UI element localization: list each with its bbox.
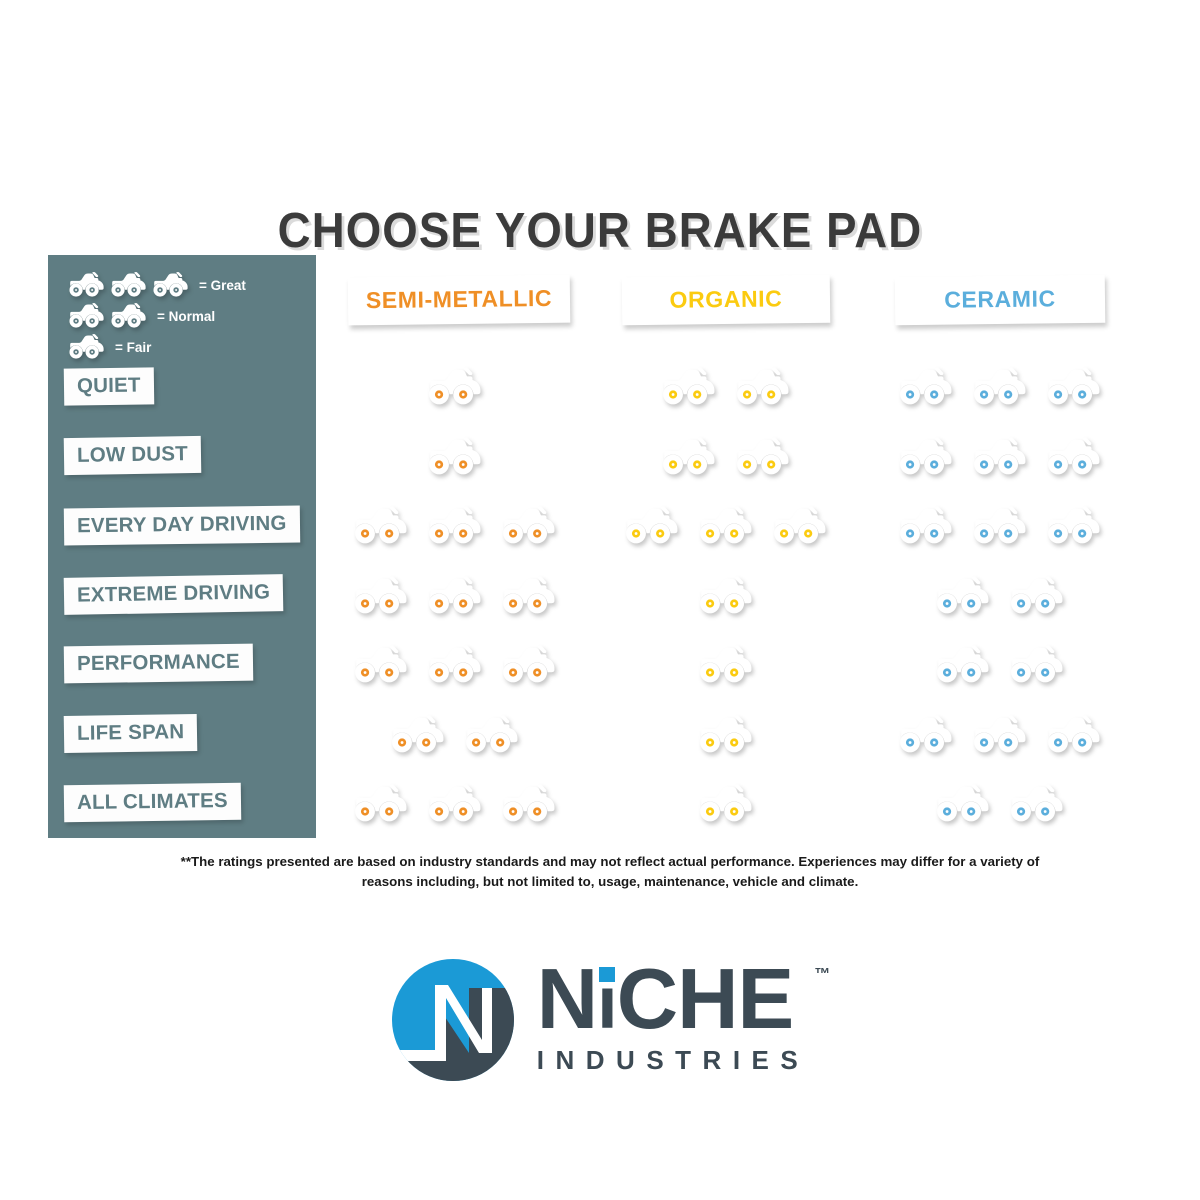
atv-icon (735, 366, 792, 407)
atv-icon (935, 783, 992, 824)
rating-cell (594, 491, 859, 560)
legend-item-fair: = Fair (68, 333, 151, 361)
atv-icon (353, 575, 410, 616)
logo-subtitle: INDUSTRIES (537, 1045, 809, 1076)
atv-icon (735, 436, 792, 477)
atv-icon (898, 366, 955, 407)
rating-cell (594, 560, 859, 629)
column-header-organic[interactable]: ORGANIC (622, 275, 831, 326)
rating-cell (863, 352, 1138, 421)
atv-icon (501, 575, 558, 616)
atv-icon (501, 505, 558, 546)
criteria-label-low-dust[interactable]: LOW DUST (64, 436, 201, 475)
rating-cell (321, 421, 590, 490)
atv-icon (661, 436, 718, 477)
logo-letter-n: N (537, 952, 597, 1047)
rating-cell (594, 699, 859, 768)
atv-icon (110, 271, 148, 298)
rating-cell (594, 630, 859, 699)
logo-wordmark: NiCHE™ INDUSTRIES (537, 964, 809, 1075)
rating-cell (863, 560, 1138, 629)
atv-icon (972, 366, 1029, 407)
rating-cell (594, 769, 859, 838)
atv-icon (698, 575, 755, 616)
legend-label-fair: = Fair (115, 340, 151, 355)
column-header-semi-metallic[interactable]: SEMI-METALLIC (348, 275, 571, 326)
atv-icon (972, 505, 1029, 546)
rating-cell (863, 421, 1138, 490)
rating-cell (863, 630, 1138, 699)
atv-icon (935, 644, 992, 685)
legend-icons-normal (68, 302, 148, 329)
atv-icon (353, 505, 410, 546)
atv-icon (698, 783, 755, 824)
atv-icon (427, 783, 484, 824)
atv-icon (898, 505, 955, 546)
atv-icon (152, 271, 190, 298)
atv-icon (390, 714, 447, 755)
legend-item-great: = Great (68, 271, 246, 299)
atv-icon (772, 505, 829, 546)
logo-letters-che: CHE (617, 952, 793, 1047)
atv-icon (1046, 436, 1103, 477)
niche-logo-mark-icon (391, 958, 515, 1082)
column-header-ceramic[interactable]: CERAMIC (895, 275, 1106, 326)
criteria-label-extreme-driving[interactable]: EXTREME DRIVING (64, 574, 284, 615)
atv-icon (972, 436, 1029, 477)
company-logo: NiCHE™ INDUSTRIES (0, 940, 1200, 1100)
rating-cell (594, 352, 859, 421)
rating-cell (321, 491, 590, 560)
rating-cell (321, 560, 590, 629)
brake-pad-comparison-chart: = Great = Normal = Fair SEMI-METALLIC OR… (48, 255, 1138, 838)
atv-icon (427, 644, 484, 685)
atv-icon (661, 366, 718, 407)
atv-icon (427, 436, 484, 477)
atv-icon (464, 714, 521, 755)
atv-icon (427, 366, 484, 407)
atv-icon (698, 714, 755, 755)
atv-icon (935, 575, 992, 616)
rating-cell (594, 421, 859, 490)
atv-icon (898, 436, 955, 477)
rating-cell (321, 769, 590, 838)
atv-icon (110, 302, 148, 329)
atv-icon (501, 783, 558, 824)
rating-cell (863, 699, 1138, 768)
atv-icon (1009, 644, 1066, 685)
rating-legend: = Great = Normal = Fair (62, 269, 312, 359)
legend-item-normal: = Normal (68, 302, 215, 330)
legend-icons-great (68, 271, 190, 298)
atv-icon (624, 505, 681, 546)
criteria-label-every-day-driving[interactable]: EVERY DAY DRIVING (64, 505, 300, 545)
criteria-label-life-span[interactable]: LIFE SPAN (64, 714, 198, 753)
criteria-label-quiet[interactable]: QUIET (64, 367, 154, 405)
atv-icon (68, 302, 106, 329)
logo-i-dot (599, 967, 615, 982)
atv-icon (68, 333, 106, 360)
logo-trademark: ™ (814, 968, 829, 981)
atv-icon (68, 271, 106, 298)
legend-label-great: = Great (199, 278, 246, 293)
atv-icon (698, 505, 755, 546)
atv-icon (1046, 366, 1103, 407)
atv-icon (898, 714, 955, 755)
atv-icon (698, 644, 755, 685)
rating-cell (321, 352, 590, 421)
rating-cell (321, 630, 590, 699)
logo-word-niche: NiCHE™ (537, 964, 809, 1035)
atv-icon (427, 575, 484, 616)
rating-cell (863, 769, 1138, 838)
atv-icon (1009, 783, 1066, 824)
atv-icon (353, 783, 410, 824)
atv-icon (1046, 505, 1103, 546)
atv-icon (353, 644, 410, 685)
atv-icon (1046, 714, 1103, 755)
rating-cell (863, 491, 1138, 560)
legend-label-normal: = Normal (157, 309, 215, 324)
atv-icon (1009, 575, 1066, 616)
legend-icons-fair (68, 333, 106, 360)
rating-cell (321, 699, 590, 768)
atv-icon (972, 714, 1029, 755)
page-title: CHOOSE YOUR BRAKE PAD (42, 203, 1158, 259)
atv-icon (427, 505, 484, 546)
criteria-label-all-climates[interactable]: ALL CLIMATES (64, 783, 241, 822)
atv-icon (501, 644, 558, 685)
criteria-label-performance[interactable]: PERFORMANCE (64, 644, 253, 684)
disclaimer-footnote: **The ratings presented are based on ind… (160, 852, 1060, 892)
